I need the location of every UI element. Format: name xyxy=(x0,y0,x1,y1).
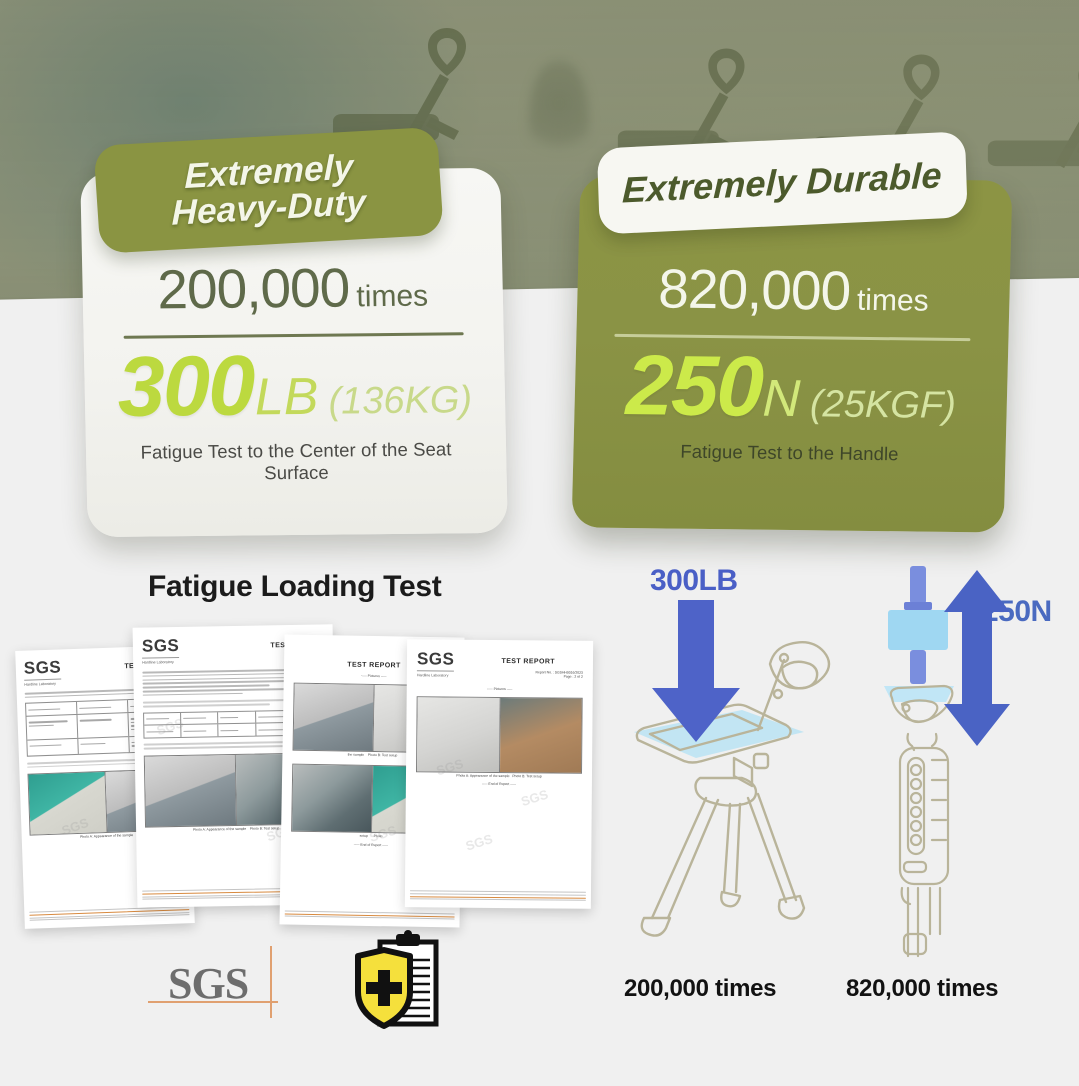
force-number: 300 xyxy=(117,338,255,434)
sgs-rule-vertical xyxy=(270,946,272,1018)
force-conversion: (25KGF) xyxy=(810,383,957,427)
badge-extremely-heavy-duty: Extremely Heavy-Duty xyxy=(93,127,443,254)
up-down-arrow-icon xyxy=(942,568,1012,748)
stat-card-heavy-duty: Extremely Heavy-Duty 200,000times 300LB(… xyxy=(80,168,508,537)
cycles-row: 820,000times xyxy=(601,256,987,325)
down-arrow-icon xyxy=(642,600,752,760)
sgs-wordmark: SGS xyxy=(142,636,180,659)
cycles-value: 200,000 xyxy=(157,256,350,320)
watermark: SGS xyxy=(519,787,550,810)
force-number: 250 xyxy=(625,338,763,435)
force-row: 300LB(136KG) xyxy=(110,341,480,430)
badge-extremely-durable: Extremely Durable xyxy=(597,131,968,234)
infographic-page: Extremely Heavy-Duty 200,000times 300LB(… xyxy=(0,0,1079,1086)
force-row: 250N(25KGF) xyxy=(598,343,984,433)
sgs-logo: SGS xyxy=(168,958,248,1009)
card-caption: Fatigue Test to the Handle xyxy=(597,440,982,467)
sgs-rule-horizontal xyxy=(148,1001,278,1003)
sgs-wordmark: SGS xyxy=(23,657,61,680)
sgs-wordmark: SGS xyxy=(417,649,455,671)
photo-caption: Photo A: Appearance of the sample Photo … xyxy=(416,772,582,778)
cycles-unit: times xyxy=(356,280,428,314)
handle-cycles-label: 820,000 times xyxy=(846,975,998,1003)
cycles-value: 820,000 xyxy=(658,257,851,321)
card-caption: Fatigue Test to the Center of the Seat S… xyxy=(112,438,481,486)
test-report-stack: SGS TEST REPORT Hardline Laboratory xyxy=(10,618,610,928)
badge-label: Extremely Durable xyxy=(622,154,943,211)
report-heading: TEST REPORT xyxy=(502,658,555,665)
badge-label: Extremely Heavy-Duty xyxy=(171,149,365,231)
force-conversion: (136KG) xyxy=(328,379,473,422)
page-value: 2 of 2 xyxy=(574,675,583,679)
shield-clipboard-icon xyxy=(352,930,442,1045)
watermark: SGS xyxy=(464,831,495,854)
section-title: Fatigue Loading Test xyxy=(148,570,441,604)
load-test-illustration: 300LB 250N xyxy=(612,552,1072,972)
seat-cycles-label: 200,000 times xyxy=(624,975,776,1003)
force-unit: LB xyxy=(254,368,319,427)
report-no-label: Report No. : xyxy=(536,670,554,674)
cycles-unit: times xyxy=(857,284,930,318)
page-label: Page : xyxy=(564,675,574,679)
card-divider xyxy=(124,332,464,339)
cycles-row: 200,000times xyxy=(108,254,477,322)
test-report-page: SGS TEST REPORT Report No. : SGSHH0016/2… xyxy=(405,639,593,909)
force-unit: N xyxy=(762,370,801,428)
stat-card-durable: Extremely Durable 820,000times 250N(25KG… xyxy=(572,175,1013,532)
